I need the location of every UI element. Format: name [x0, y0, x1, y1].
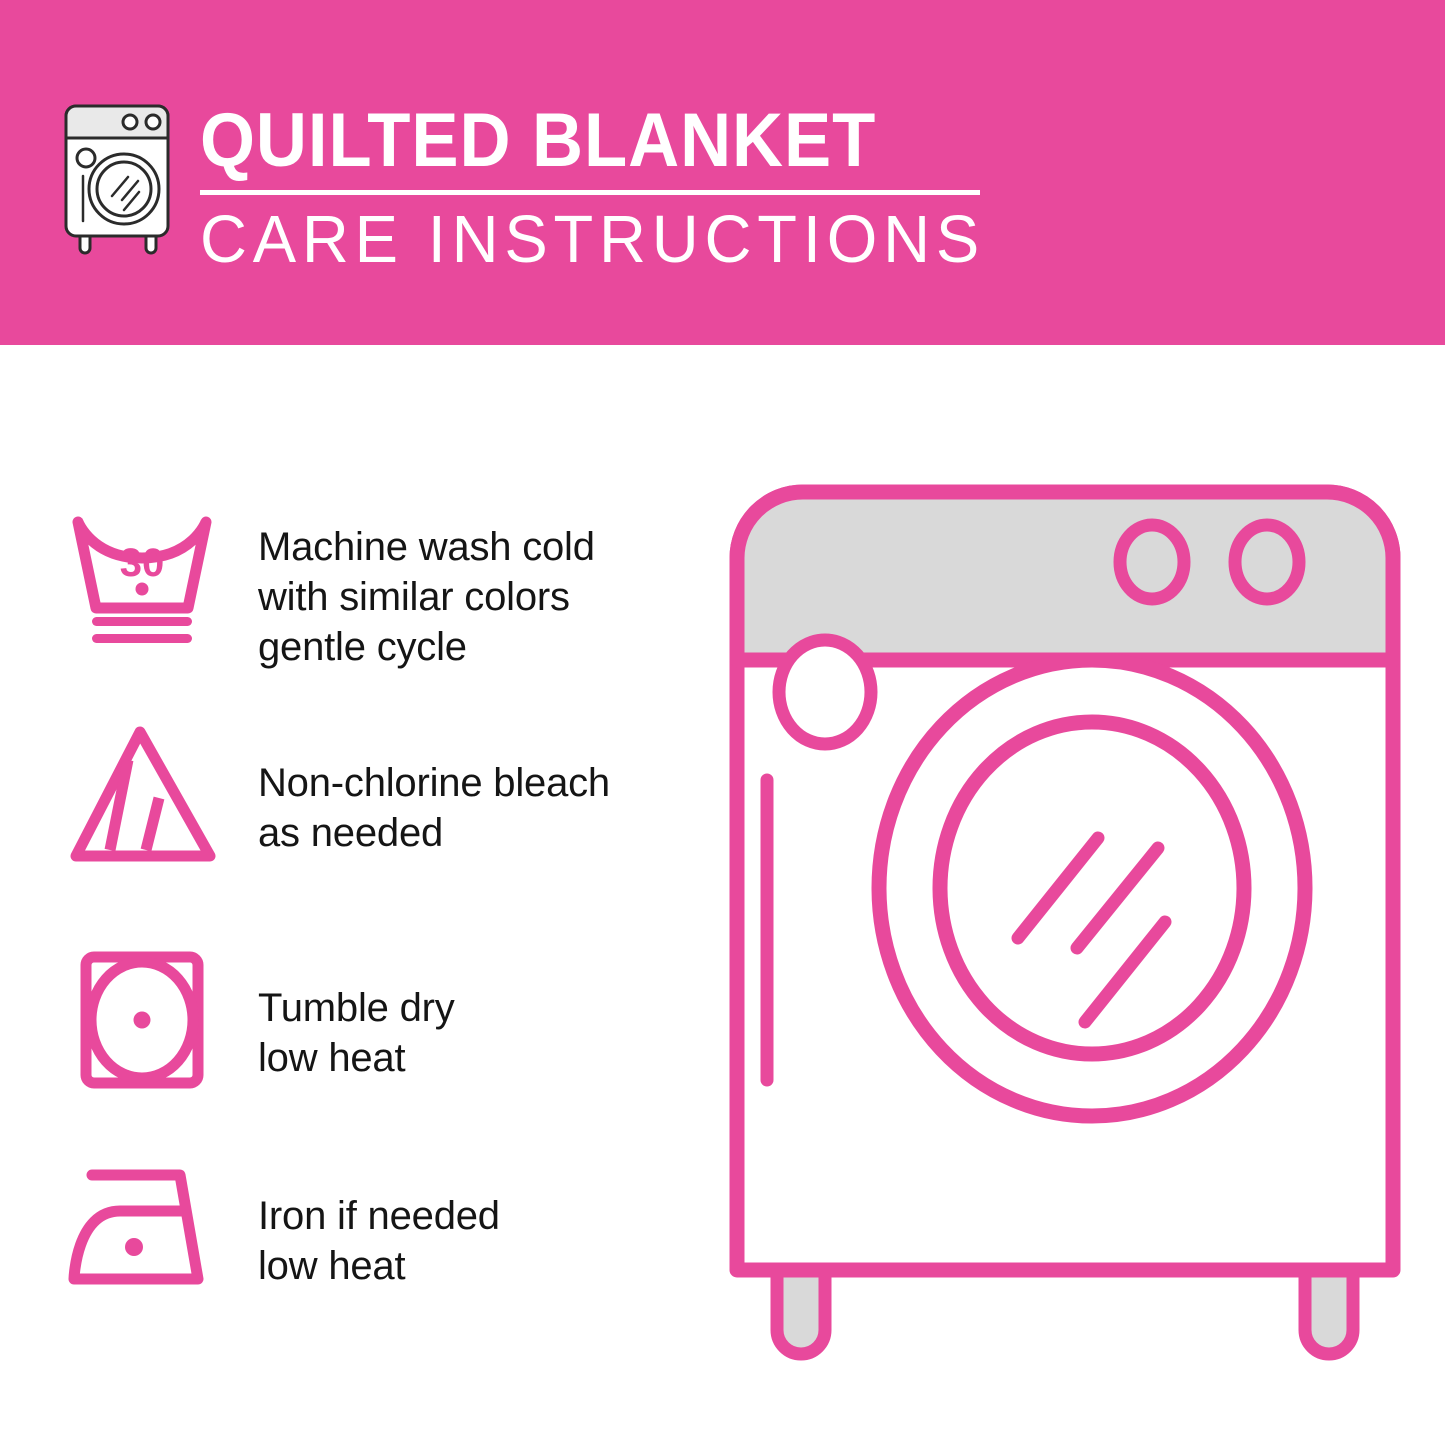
care-row-label: Machine wash cold with similar colors ge…: [258, 500, 595, 672]
iron-icon: [62, 1155, 222, 1300]
washing-machine-illustration: [715, 470, 1415, 1370]
header-banner: QUILTED BLANKET CARE INSTRUCTIONS: [0, 0, 1445, 345]
title-divider: [200, 190, 980, 195]
wash-temperature-label: 30: [120, 541, 165, 585]
care-row-label: Iron if needed low heat: [258, 1155, 500, 1291]
care-row: Non-chlorine bleach as needed: [0, 720, 700, 870]
care-instruction-list: 30 Machine wash cold with similar colors…: [0, 345, 700, 1445]
header-text-block: QUILTED BLANKET CARE INSTRUCTIONS: [200, 100, 990, 276]
wash-tub-30-icon: 30: [62, 500, 222, 660]
washer-leg-right: [1305, 1270, 1353, 1354]
care-row-label: Tumble dry low heat: [258, 945, 455, 1083]
washer-indicator-light: [779, 640, 871, 744]
tumble-dry-icon: [62, 945, 222, 1095]
washer-knob-2: [1235, 525, 1299, 599]
care-row-label: Non-chlorine bleach as needed: [258, 720, 610, 858]
page-title: QUILTED BLANKET: [200, 100, 935, 182]
care-row: Iron if needed low heat: [0, 1155, 700, 1300]
washer-leg-left: [777, 1270, 825, 1354]
washer-knob-1: [1120, 525, 1184, 599]
care-row: Tumble dry low heat: [0, 945, 700, 1095]
care-row: 30 Machine wash cold with similar colors…: [0, 500, 700, 672]
page-subtitle: CARE INSTRUCTIONS: [200, 204, 966, 276]
care-instructions-infographic: QUILTED BLANKET CARE INSTRUCTIONS 30: [0, 0, 1445, 1445]
washing-machine-icon: [58, 96, 188, 256]
bleach-triangle-icon: [62, 720, 222, 870]
